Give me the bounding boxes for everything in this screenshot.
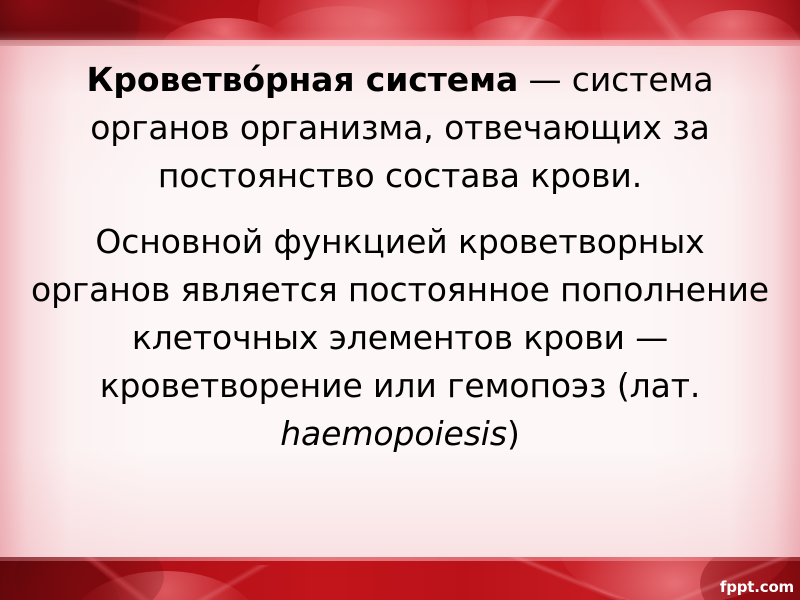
bottom-decorative-band bbox=[0, 557, 800, 600]
top-decorative-band bbox=[0, 0, 800, 46]
term-bold: Кроветво́рная система bbox=[87, 60, 519, 99]
band-top-edge bbox=[0, 557, 800, 561]
blood-cell-blob bbox=[70, 571, 260, 600]
blood-cell-blob bbox=[14, 557, 164, 600]
fppt-watermark: fppt.com bbox=[720, 578, 794, 596]
slide-text-body: Кроветво́рная система — система органов … bbox=[0, 56, 800, 458]
curve-accent bbox=[20, 557, 220, 600]
band-bottom-edge bbox=[0, 40, 800, 46]
blood-cell-blob bbox=[0, 557, 120, 600]
paragraph-function: Основной функцией кроветворных органов я… bbox=[0, 218, 800, 458]
function-text-lead: Основной функцией кроветворных органов я… bbox=[31, 222, 769, 405]
curve-accent bbox=[480, 557, 660, 600]
presentation-slide: Кроветво́рная система — система органов … bbox=[0, 0, 800, 600]
latin-term-italic: haemopoiesis bbox=[280, 414, 507, 453]
curve-accent bbox=[120, 565, 320, 600]
function-text-tail: ) bbox=[507, 414, 520, 453]
paragraph-definition: Кроветво́рная система — система органов … bbox=[0, 56, 800, 200]
